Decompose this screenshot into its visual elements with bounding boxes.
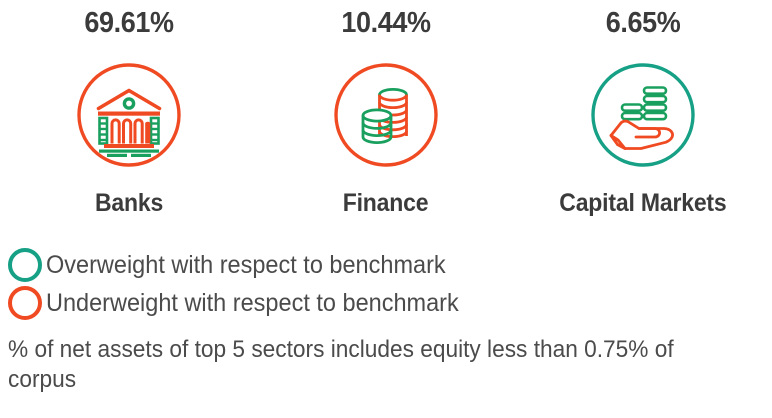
legend-marker-overweight-icon [8,248,42,282]
sector-percent-finance: 10.44% [341,9,430,38]
legend-label-overweight: Overweight with respect to benchmark [46,253,446,278]
coin-stacks-icon [332,61,440,169]
sector-icon-finance [332,61,440,169]
sector-card-banks: 69.61% [0,0,257,240]
sector-percent-banks: 69.61% [84,9,173,38]
sector-percent-capital-markets: 6.65% [606,9,681,38]
sector-label-finance: Finance [343,191,429,216]
footnote-text: % of net assets of top 5 sectors include… [8,335,688,396]
legend: Overweight with respect to benchmark Und… [8,246,768,322]
bank-icon [75,61,183,169]
sector-icon-banks [75,61,183,169]
legend-item-underweight: Underweight with respect to benchmark [8,284,768,322]
hand-with-coins-icon [589,61,697,169]
legend-marker-underweight-icon [8,286,42,320]
sector-label-capital-markets: Capital Markets [560,191,727,216]
sector-icon-capital-markets [589,61,697,169]
legend-label-underweight: Underweight with respect to benchmark [46,291,459,316]
sector-label-banks: Banks [95,191,163,216]
legend-item-overweight: Overweight with respect to benchmark [8,246,768,284]
sector-card-capital-markets: 6.65% Capital Markets [515,0,772,240]
sector-cards-row: 69.61% [0,0,772,240]
sector-card-finance: 10.44% [257,0,514,240]
